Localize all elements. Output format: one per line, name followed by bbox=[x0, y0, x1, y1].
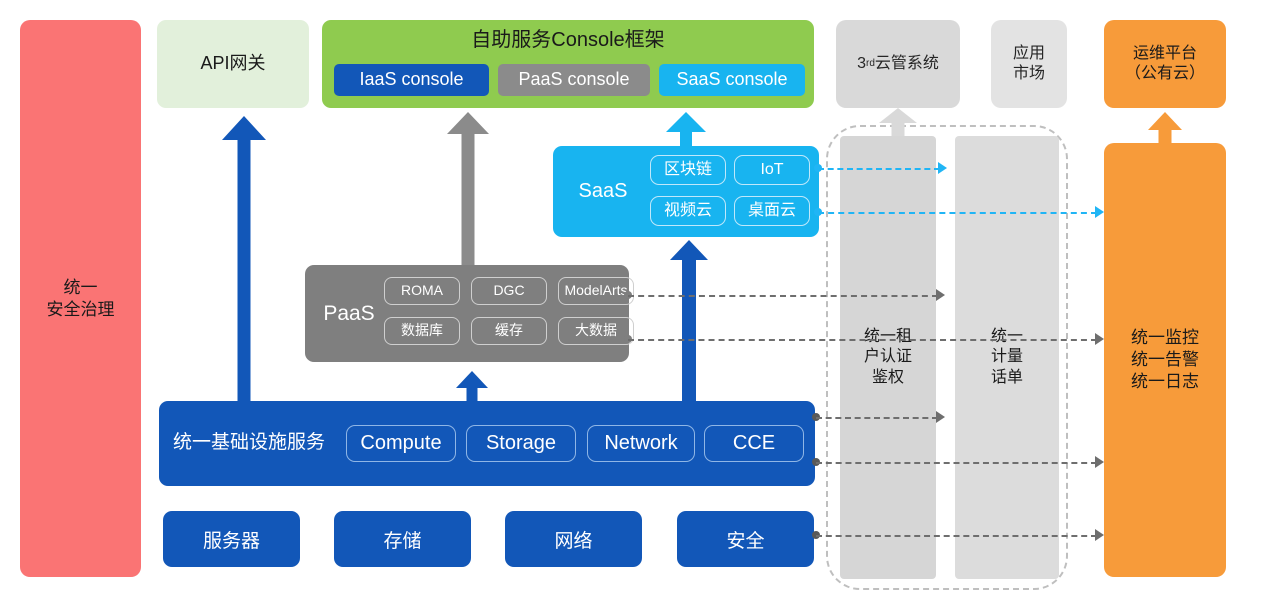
arrow-iaas-to-api-gateway bbox=[222, 116, 266, 401]
unified-security-governance-column: 统一 安全治理 bbox=[20, 20, 141, 577]
iaas-pill-compute[interactable]: Compute bbox=[346, 425, 456, 462]
paas-pill-bigdata[interactable]: 大数据 bbox=[558, 317, 634, 345]
saas-console-pill[interactable]: SaaS console bbox=[659, 64, 805, 96]
paas-block: PaaS ROMA DGC ModelArts 数据库 缓存 大数据 bbox=[305, 265, 629, 362]
paas-block-label: PaaS bbox=[313, 301, 385, 328]
iaas-pill-storage[interactable]: Storage bbox=[466, 425, 576, 462]
paas-pill-dgc[interactable]: DGC bbox=[471, 277, 547, 305]
hardware-box-security: 安全 bbox=[677, 511, 814, 567]
self-service-console-frame: 自助服务Console框架 IaaS console PaaS console … bbox=[322, 20, 814, 108]
arrow-monitor-to-ops-platform bbox=[1148, 112, 1182, 144]
saas-pill-video-cloud[interactable]: 视频云 bbox=[650, 196, 726, 226]
architecture-diagram: 统一 安全治理 API网关 自助服务Console框架 IaaS console… bbox=[0, 0, 1265, 605]
paas-pill-database[interactable]: 数据库 bbox=[384, 317, 460, 345]
console-frame-title: 自助服务Console框架 bbox=[322, 28, 814, 54]
third-party-label-prefix: 3 bbox=[857, 54, 866, 74]
api-gateway-box: API网关 bbox=[157, 20, 309, 108]
unified-infrastructure-service-bar: 统一基础设施服务 Compute Storage Network CCE bbox=[159, 401, 815, 486]
paas-pill-cache[interactable]: 缓存 bbox=[471, 317, 547, 345]
unified-tenant-auth-panel: 统一租 户认证 鉴权 bbox=[840, 136, 936, 579]
app-market-box: 应用 市场 bbox=[991, 20, 1067, 108]
paas-pill-modelarts[interactable]: ModelArts bbox=[558, 277, 634, 305]
iaas-bar-label: 统一基础设施服务 bbox=[173, 431, 325, 455]
iaas-pill-network[interactable]: Network bbox=[587, 425, 695, 462]
unified-monitoring-column: 统一监控 统一告警 统一日志 bbox=[1104, 143, 1226, 577]
saas-block: SaaS 区块链 IoT 视频云 桌面云 bbox=[553, 146, 819, 237]
arrow-iaas-to-paas bbox=[456, 371, 488, 402]
paas-console-pill[interactable]: PaaS console bbox=[498, 64, 650, 96]
saas-block-label: SaaS bbox=[563, 179, 643, 205]
saas-pill-desktop-cloud[interactable]: 桌面云 bbox=[734, 196, 810, 226]
paas-pill-roma[interactable]: ROMA bbox=[384, 277, 460, 305]
third-party-cloud-mgmt-box: 3rd云管系统 bbox=[836, 20, 960, 108]
iaas-pill-cce[interactable]: CCE bbox=[704, 425, 804, 462]
iaas-console-pill[interactable]: IaaS console bbox=[334, 64, 489, 96]
third-party-label-superscript: rd bbox=[866, 58, 875, 71]
arrow-iaas-to-saas bbox=[670, 240, 708, 402]
unified-metering-billing-panel: 统一 计量 话单 bbox=[955, 136, 1059, 579]
third-party-label-suffix: 云管系统 bbox=[875, 54, 939, 74]
arrow-paas-to-console bbox=[447, 112, 489, 265]
hardware-box-storage: 存储 bbox=[334, 511, 471, 567]
arrow-saas-to-console bbox=[666, 112, 706, 148]
hardware-box-server: 服务器 bbox=[163, 511, 300, 567]
ops-platform-box: 运维平台 （公有云） bbox=[1104, 20, 1226, 108]
arrow-to-third-party-cloud bbox=[879, 108, 917, 136]
saas-pill-iot[interactable]: IoT bbox=[734, 155, 810, 185]
saas-pill-blockchain[interactable]: 区块链 bbox=[650, 155, 726, 185]
hardware-box-network: 网络 bbox=[505, 511, 642, 567]
